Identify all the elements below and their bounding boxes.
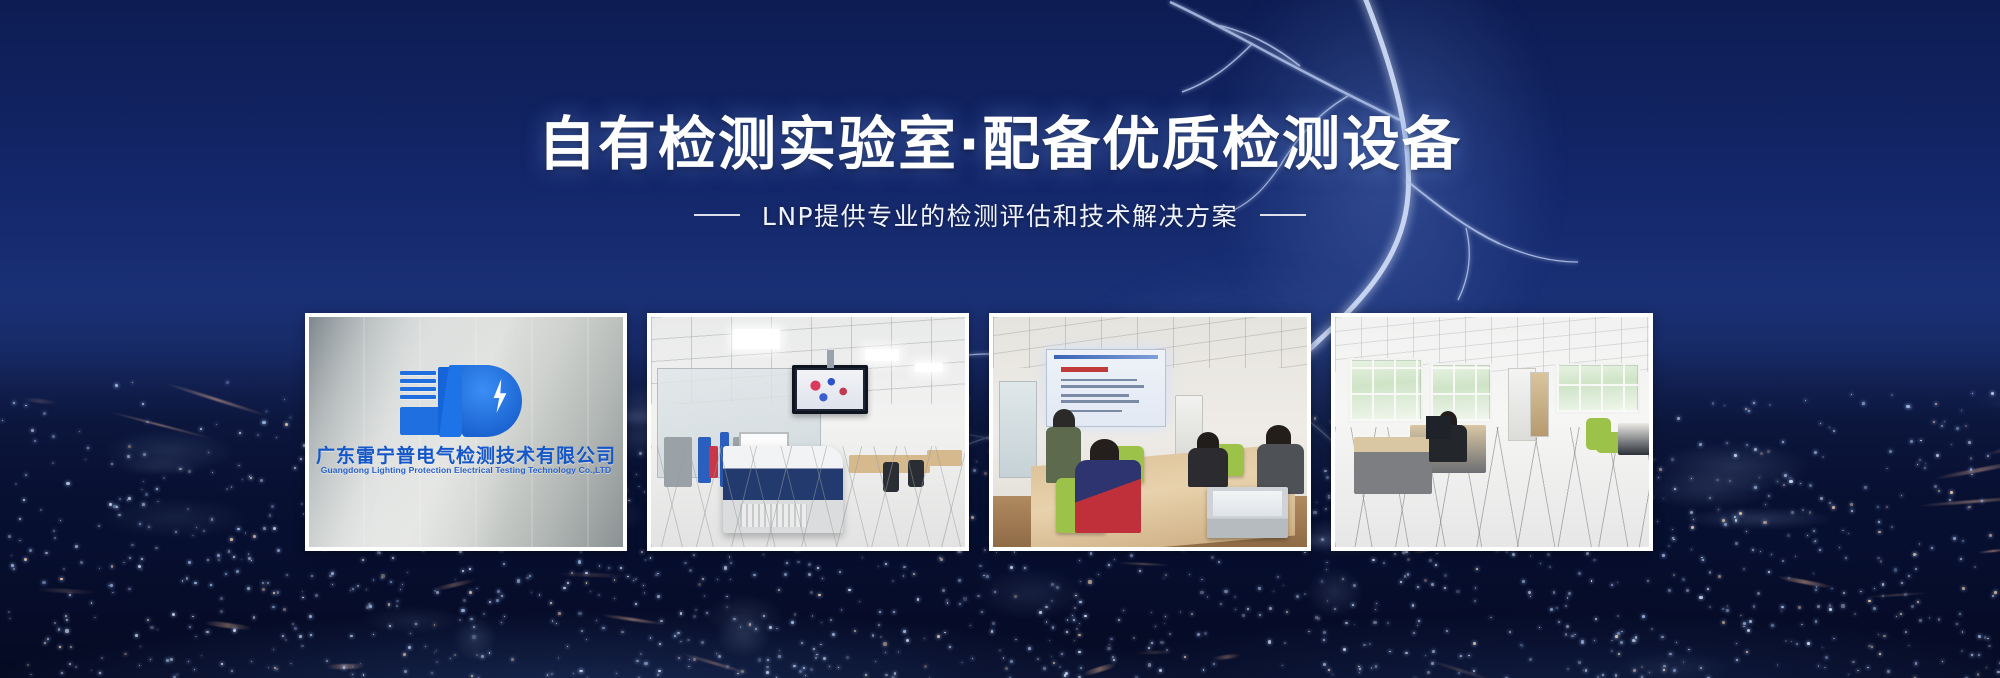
divider-left bbox=[694, 214, 740, 216]
lab-floor bbox=[651, 446, 965, 547]
office-window-mid bbox=[1429, 363, 1492, 423]
page-subtitle: LNP提供专业的检测评估和技术解决方案 bbox=[762, 197, 1238, 233]
laptop-computer bbox=[1207, 487, 1289, 538]
person-body bbox=[1188, 448, 1229, 487]
office-window-right bbox=[1555, 363, 1640, 414]
divider-right bbox=[1260, 214, 1306, 216]
gallery-photo-meeting-room[interactable] bbox=[989, 313, 1311, 551]
company-name-en: Guangdong Lighting Protection Electrical… bbox=[321, 465, 612, 475]
hero-headline: 自有检测实验室·配备优质检测设备 LNP提供专业的检测评估和技术解决方案 bbox=[0, 112, 2000, 233]
ceiling-light bbox=[865, 349, 900, 361]
ceiling-light bbox=[915, 363, 943, 372]
meeting-room-door bbox=[999, 381, 1037, 478]
page-title: 自有检测实验室·配备优质检测设备 bbox=[0, 112, 2000, 177]
subtitle-row: LNP提供专业的检测评估和技术解决方案 bbox=[0, 197, 2000, 233]
photo-gallery: 广东雷宁普电气检测技术有限公司 Guangdong Lighting Prote… bbox=[0, 313, 2000, 551]
gallery-photo-testing-laboratory[interactable] bbox=[647, 313, 969, 551]
office-reception-desk bbox=[1618, 423, 1649, 455]
gallery-photo-company-sign[interactable]: 广东雷宁普电气检测技术有限公司 Guangdong Lighting Prote… bbox=[305, 313, 627, 551]
person-body bbox=[1075, 460, 1141, 534]
lnp-logo-icon bbox=[400, 361, 532, 435]
lab-wall-monitor bbox=[792, 365, 867, 413]
office-shelf bbox=[1530, 372, 1549, 436]
company-name-cn: 广东雷宁普电气检测技术有限公司 bbox=[316, 441, 616, 468]
ceiling-light bbox=[733, 329, 780, 350]
office-computer-monitor bbox=[1426, 416, 1451, 439]
hero-banner: 自有检测实验室·配备优质检测设备 LNP提供专业的检测评估和技术解决方案 bbox=[0, 0, 2000, 678]
office-desk-side bbox=[1354, 437, 1433, 495]
office-window-left bbox=[1348, 358, 1423, 422]
gallery-photo-office-area[interactable] bbox=[1331, 313, 1653, 551]
